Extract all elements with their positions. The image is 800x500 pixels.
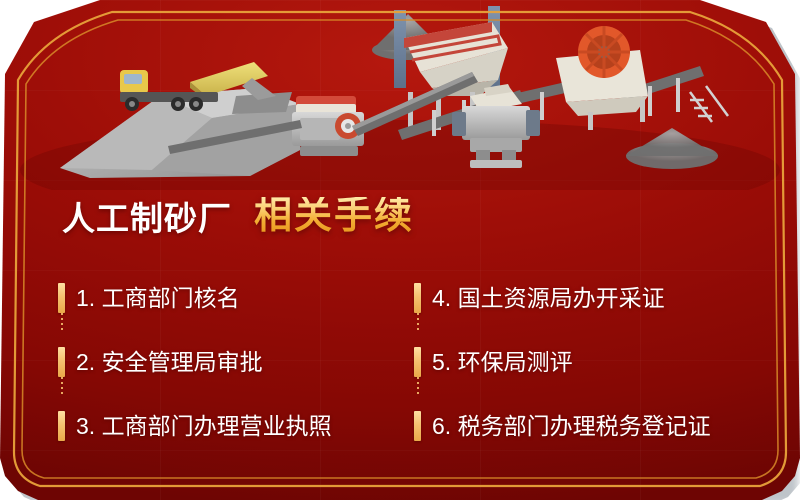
sand-washer-icon <box>556 26 648 130</box>
list-item[interactable]: 6. 税务部门办理税务登记证 <box>414 394 774 458</box>
list-item-label: 6. 税务部门办理税务登记证 <box>432 415 711 438</box>
bullet-marker-icon <box>414 347 421 377</box>
bullet-marker-icon <box>58 347 65 377</box>
dotted-connector-icon <box>61 377 63 395</box>
list-item-label: 1. 工商部门核名 <box>76 287 240 310</box>
procedure-list: 1. 工商部门核名 2. 安全管理局审批 3. 工商部门办理营业执照 4. 国土… <box>0 266 800 466</box>
dotted-connector-icon <box>417 377 419 395</box>
title-highlight: 相关手续 <box>254 197 414 235</box>
list-item[interactable]: 4. 国土资源局办开采证 <box>414 266 774 330</box>
list-item-label: 2. 安全管理局审批 <box>76 351 263 374</box>
bullet-marker-icon <box>414 411 421 441</box>
plant-illustration <box>0 0 800 190</box>
banner-stage: 人工制砂厂 相关手续 1. 工商部门核名 2. 安全管理局审批 3. 工商部门办… <box>0 0 800 500</box>
procedure-column-right: 4. 国土资源局办开采证 5. 环保局测评 6. 税务部门办理税务登记证 <box>414 266 774 458</box>
bullet-marker-icon <box>58 283 65 313</box>
list-item-label: 5. 环保局测评 <box>432 351 573 374</box>
access-stairs-icon <box>690 86 728 122</box>
list-item[interactable]: 2. 安全管理局审批 <box>58 330 418 394</box>
dotted-connector-icon <box>417 313 419 331</box>
page-title: 人工制砂厂 相关手续 <box>62 197 414 235</box>
list-item[interactable]: 5. 环保局测评 <box>414 330 774 394</box>
bullet-marker-icon <box>58 411 65 441</box>
procedure-column-left: 1. 工商部门核名 2. 安全管理局审批 3. 工商部门办理营业执照 <box>58 266 418 458</box>
bullet-marker-icon <box>414 283 421 313</box>
list-item-label: 3. 工商部门办理营业执照 <box>76 415 332 438</box>
plant-illustration-svg <box>0 0 800 190</box>
list-item[interactable]: 3. 工商部门办理营业执照 <box>58 394 418 458</box>
list-item[interactable]: 1. 工商部门核名 <box>58 266 418 330</box>
title-primary: 人工制砂厂 <box>62 202 232 235</box>
dotted-connector-icon <box>61 313 63 331</box>
list-item-label: 4. 国土资源局办开采证 <box>432 287 665 310</box>
